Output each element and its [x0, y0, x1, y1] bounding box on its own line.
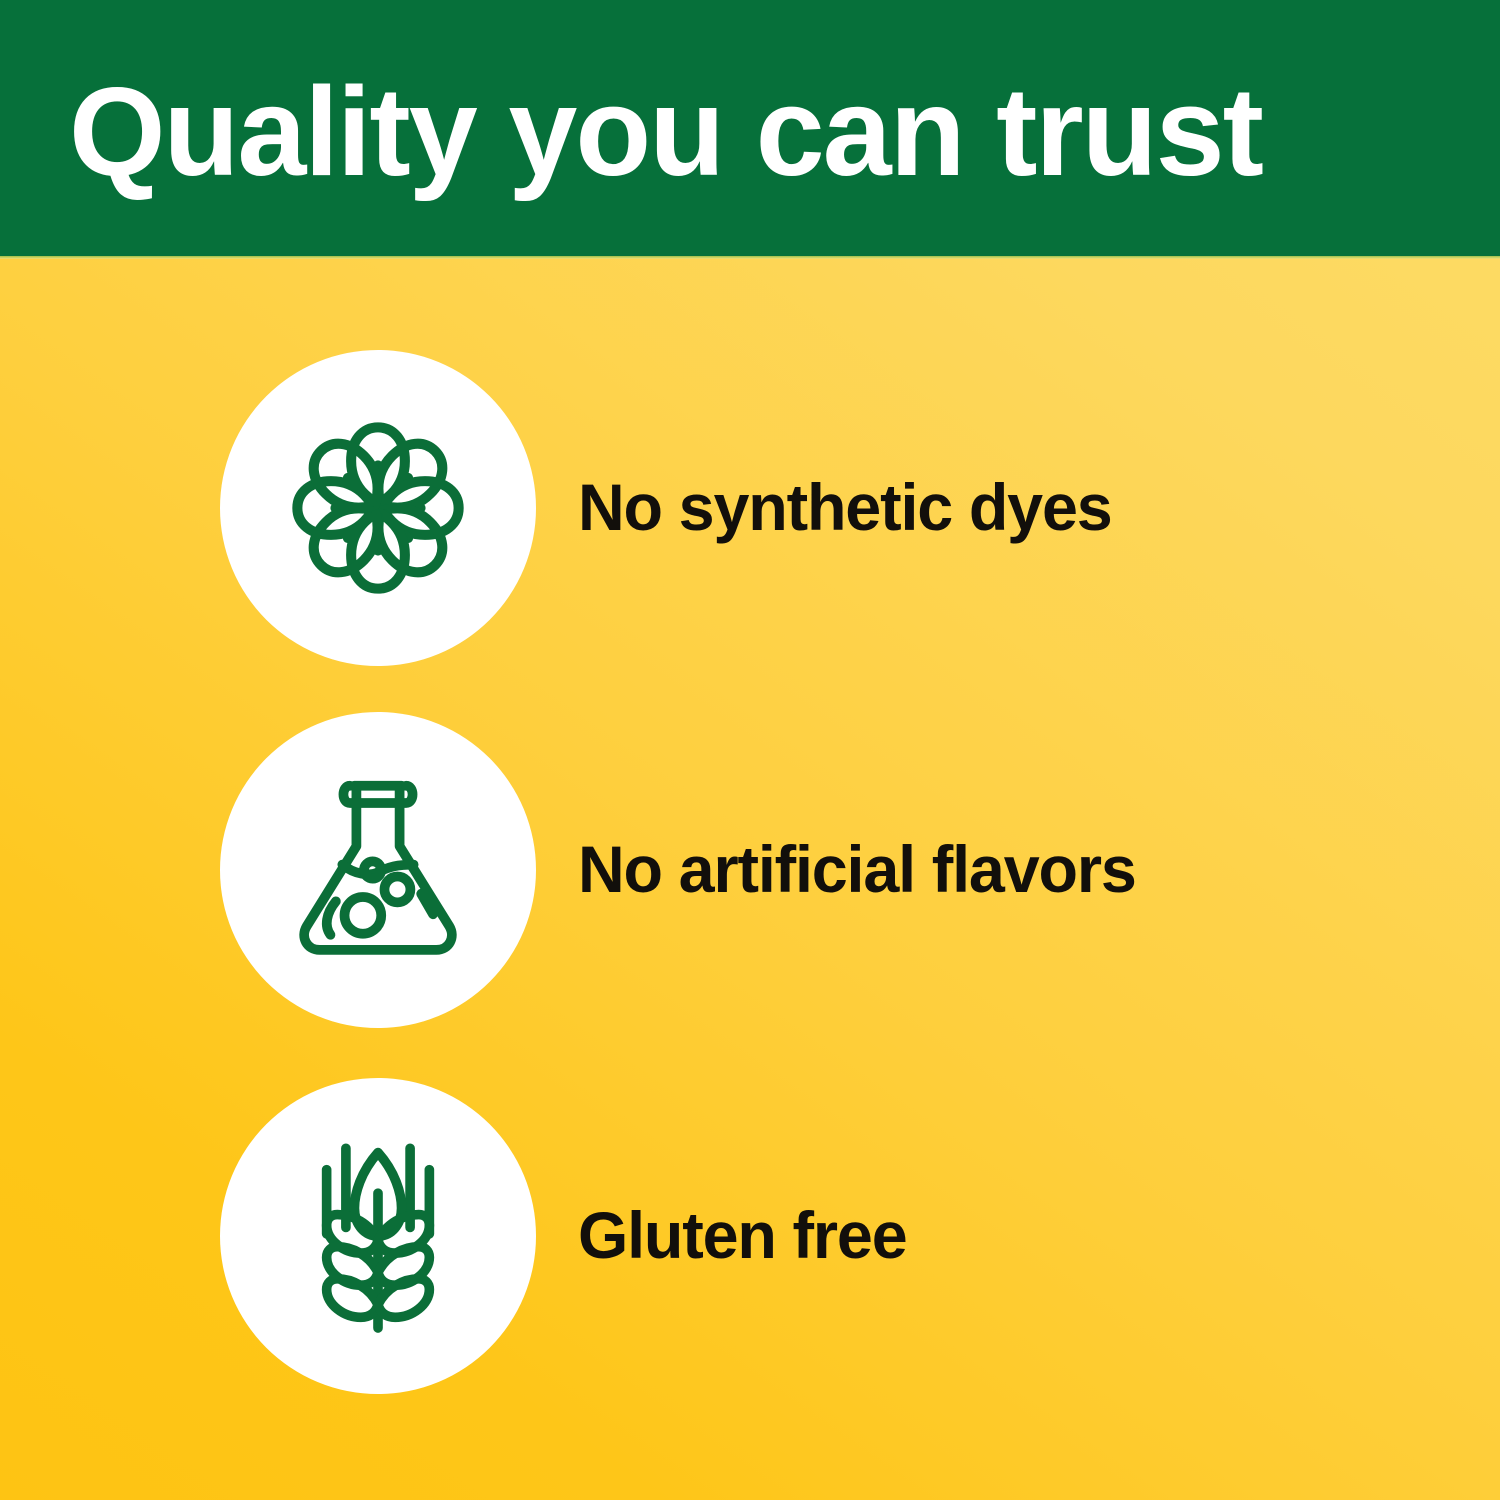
flower-petals-icon — [266, 396, 490, 620]
feature-row: No artificial flavors — [0, 712, 1500, 1028]
icon-badge — [220, 712, 536, 1028]
feature-label: Gluten free — [578, 1201, 906, 1270]
quality-infographic: Quality you can trust — [0, 0, 1500, 1500]
icon-badge — [220, 1078, 536, 1394]
page-title: Quality you can trust — [0, 69, 1262, 195]
feature-list: No synthetic dyes — [0, 256, 1500, 1500]
icon-badge — [220, 350, 536, 666]
wheat-icon — [271, 1129, 485, 1343]
feature-label: No artificial flavors — [578, 835, 1136, 904]
feature-label: No synthetic dyes — [578, 473, 1112, 542]
feature-row: No synthetic dyes — [0, 350, 1500, 666]
feature-row: Gluten free — [0, 1078, 1500, 1394]
flask-icon — [270, 762, 486, 978]
header-band: Quality you can trust — [0, 0, 1500, 256]
